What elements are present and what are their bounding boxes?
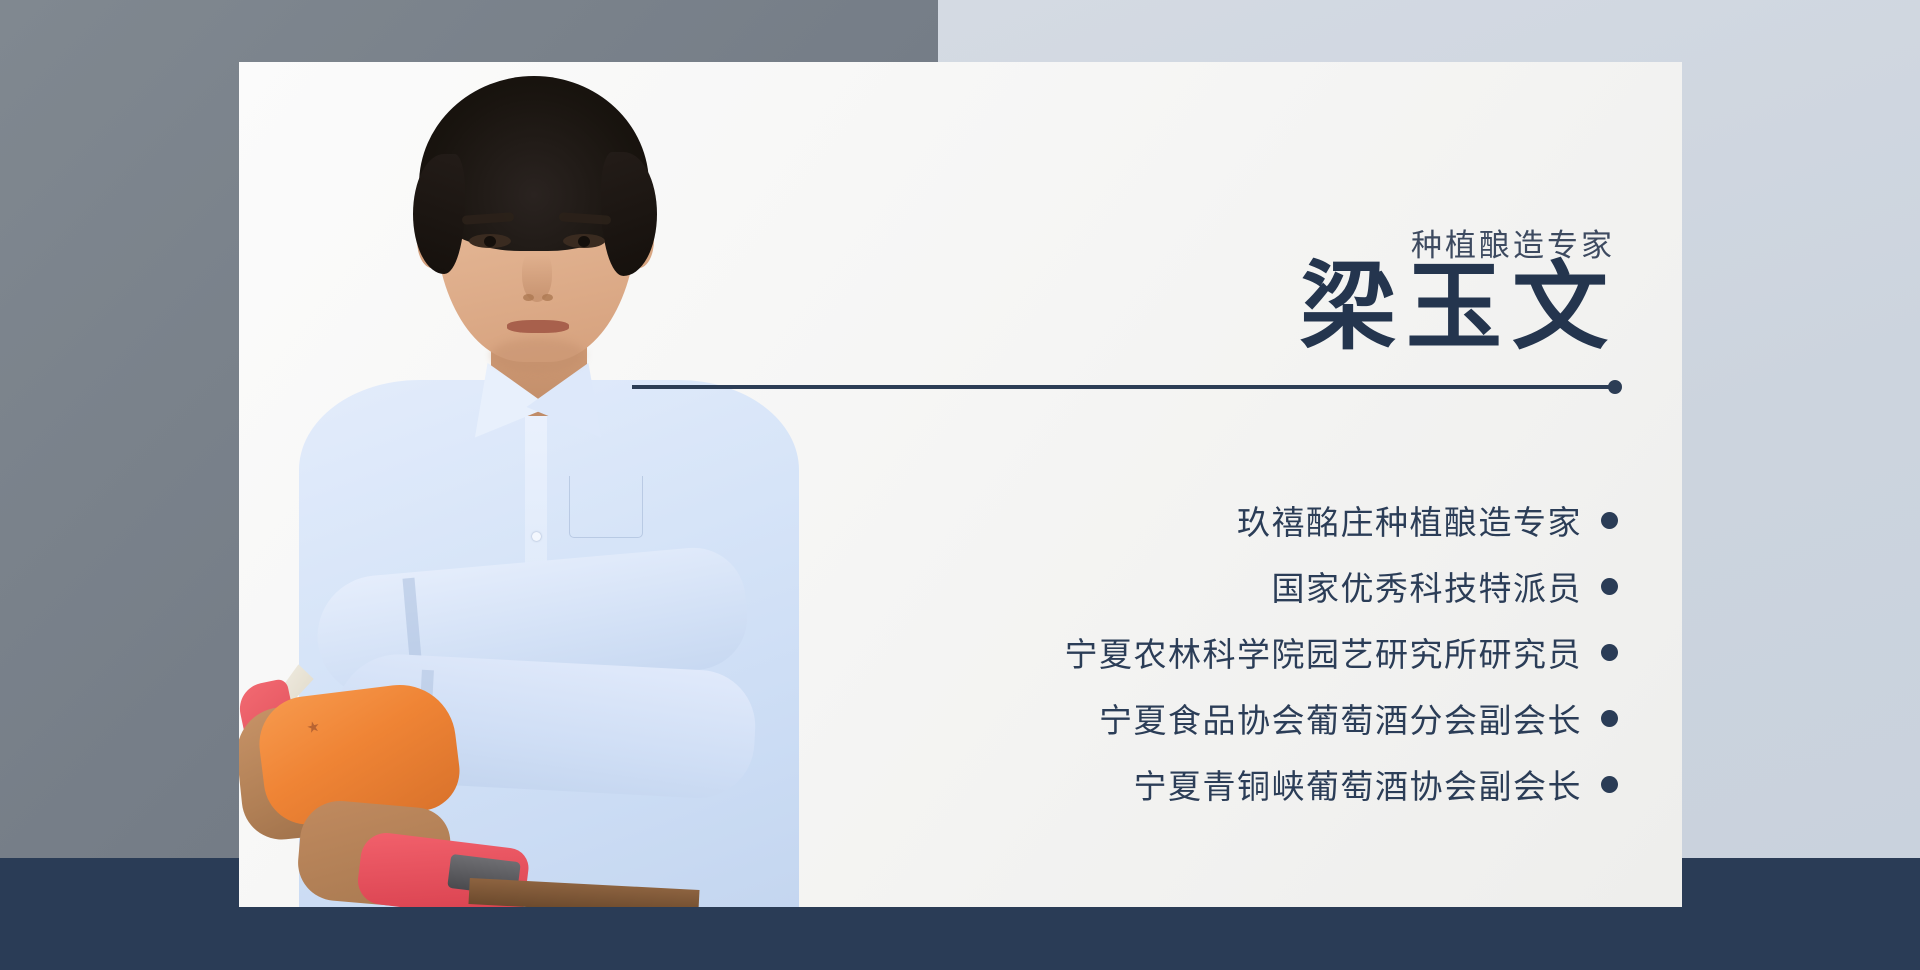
credentials-list: 玖禧酩庄种植酿造专家 国家优秀科技特派员 宁夏农林科学院园艺研究所研究员 宁夏食… — [718, 487, 1618, 817]
divider-line — [632, 385, 1610, 389]
bullet-dot-icon — [1601, 710, 1618, 727]
credential-label: 宁夏食品协会葡萄酒分会副会长 — [1099, 694, 1582, 742]
profile-card: ★ 种植酿造专家 梁玉文 玖禧酩庄种植酿造专家 国家优秀科技特派员 宁夏农林科学… — [239, 62, 1682, 907]
shirt-button — [532, 532, 541, 541]
bullet-dot-icon — [1601, 644, 1618, 661]
nostril-left — [523, 294, 534, 301]
credential-label: 宁夏农林科学院园艺研究所研究员 — [1065, 628, 1583, 676]
bullet-dot-icon — [1601, 512, 1618, 529]
credential-label: 宁夏青铜峡葡萄酒协会副会长 — [1134, 760, 1583, 808]
pupil-left — [484, 236, 496, 247]
mouth — [507, 320, 569, 333]
divider-end-dot-icon — [1608, 380, 1622, 394]
chin-shadow — [491, 338, 585, 372]
bullet-dot-icon — [1601, 578, 1618, 595]
credential-item: 玖禧酩庄种植酿造专家 — [718, 487, 1618, 553]
bullet-dot-icon — [1601, 776, 1618, 793]
credential-label: 国家优秀科技特派员 — [1272, 562, 1583, 610]
pupil-right — [578, 236, 590, 247]
divider — [632, 380, 1622, 394]
credential-item: 国家优秀科技特派员 — [718, 553, 1618, 619]
credential-item: 宁夏食品协会葡萄酒分会副会长 — [718, 685, 1618, 751]
shirt-pocket — [569, 476, 643, 538]
expert-name: 梁玉文 — [1300, 258, 1618, 359]
credential-item: 宁夏农林科学院园艺研究所研究员 — [718, 619, 1618, 685]
credential-item: 宁夏青铜峡葡萄酒协会副会长 — [718, 751, 1618, 817]
nostril-right — [542, 294, 553, 301]
credential-label: 玖禧酩庄种植酿造专家 — [1237, 496, 1582, 544]
